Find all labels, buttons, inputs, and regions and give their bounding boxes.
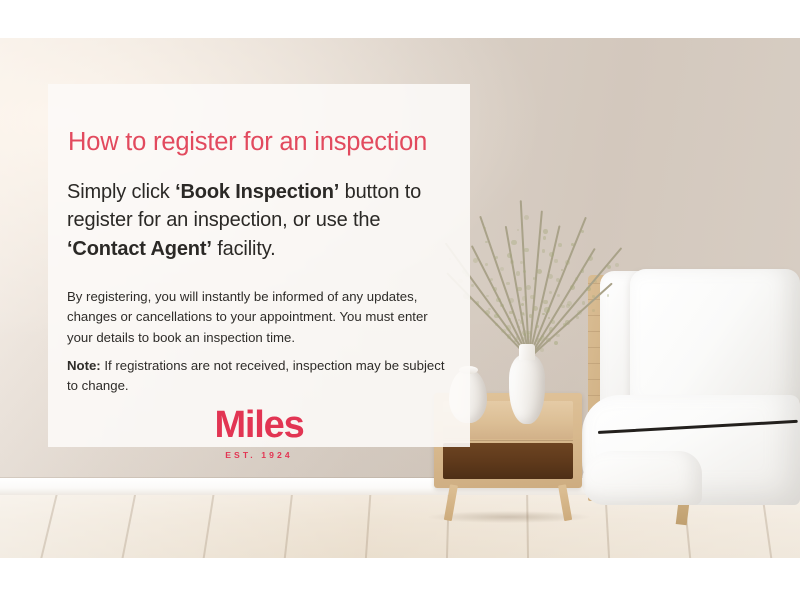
- branch-foliage: [577, 310, 582, 315]
- branch-foliage: [507, 253, 512, 258]
- branch-twig: [528, 248, 595, 359]
- branch-foliage: [527, 331, 531, 335]
- branch-foliage: [500, 304, 503, 307]
- branch-foliage: [496, 298, 500, 302]
- brand-logo: Miles EST. 1924: [48, 406, 470, 460]
- branch-foliage: [506, 282, 510, 286]
- branch-foliage: [500, 267, 504, 271]
- vase-tall-neck: [519, 344, 535, 360]
- branch-foliage: [563, 323, 566, 326]
- note-paragraph: Note: If registrations are not received,…: [67, 356, 447, 397]
- branch-foliage: [615, 263, 619, 267]
- branch-foliage: [576, 316, 579, 319]
- branch-foliage: [526, 285, 531, 290]
- branch-foliage: [484, 227, 486, 229]
- branch-foliage: [607, 265, 611, 269]
- duvet-fold: [582, 451, 702, 505]
- book-inspection-label: ‘Book Inspection’: [175, 181, 339, 203]
- branch-foliage: [530, 295, 535, 300]
- branch-foliage: [485, 310, 490, 315]
- branch-foliage: [543, 300, 548, 305]
- branch-foliage: [485, 241, 487, 243]
- branch-foliage: [571, 243, 574, 246]
- branch-foliage: [543, 236, 546, 239]
- branch-foliage: [561, 305, 564, 308]
- branch-foliage: [557, 294, 560, 297]
- branch-foliage: [551, 320, 555, 324]
- branch-foliage: [549, 330, 552, 333]
- branch-foliage: [548, 274, 553, 279]
- branch-foliage: [486, 295, 489, 298]
- contact-agent-label: ‘Contact Agent’: [67, 238, 212, 260]
- branch-foliage: [536, 325, 538, 327]
- lead-text-part-3: facility.: [212, 238, 276, 260]
- branch-foliage: [537, 269, 542, 274]
- branch-foliage: [582, 301, 586, 305]
- poster-panel: How to register for an inspection Simply…: [48, 84, 470, 447]
- branch-foliage: [554, 341, 558, 345]
- branch-foliage: [575, 277, 578, 280]
- branch-foliage: [549, 252, 554, 257]
- branch-foliage: [510, 260, 514, 264]
- branch-foliage: [594, 280, 597, 283]
- note-label: Note:: [67, 358, 101, 373]
- letterbox-bottom: [0, 558, 800, 600]
- branch-foliage: [517, 229, 519, 231]
- branch-foliage: [511, 240, 516, 245]
- branch-foliage: [521, 303, 524, 306]
- page-title: How to register for an inspection: [68, 128, 458, 156]
- branch-foliage: [476, 301, 480, 305]
- branch-foliage: [543, 229, 548, 234]
- branch-foliage: [524, 248, 528, 252]
- logo-wordmark: Miles: [48, 406, 470, 444]
- branch-foliage: [592, 309, 595, 312]
- screenshot-stage: How to register for an inspection Simply…: [0, 0, 800, 600]
- branch-foliage: [607, 294, 609, 296]
- branch-foliage: [495, 323, 498, 326]
- branch-foliage: [533, 306, 538, 311]
- branch-foliage: [495, 256, 498, 259]
- branch-foliage: [509, 298, 514, 303]
- branch-foliage: [540, 348, 544, 352]
- logo-established: EST. 1924: [48, 450, 470, 460]
- branch-foliage: [524, 215, 529, 220]
- branch-foliage: [523, 270, 526, 273]
- branch-foliage: [556, 334, 560, 338]
- bedroom-scene-photo: How to register for an inspection Simply…: [0, 38, 800, 558]
- branch-foliage: [485, 263, 489, 267]
- branch-foliage: [517, 287, 522, 292]
- branch-foliage: [549, 291, 553, 295]
- branch-foliage: [544, 307, 549, 312]
- branch-foliage: [542, 249, 546, 253]
- branch-foliage: [533, 277, 535, 279]
- branch-foliage: [581, 269, 585, 273]
- branch-foliage: [488, 308, 491, 311]
- lead-paragraph: Simply click ‘Book Inspection’ button to…: [67, 178, 459, 263]
- branch-foliage: [520, 320, 523, 323]
- branch-foliage: [471, 284, 474, 287]
- branch-foliage: [516, 271, 521, 276]
- branch-foliage: [554, 259, 557, 262]
- branch-foliage: [493, 287, 497, 291]
- note-text: If registrations are not received, inspe…: [67, 358, 445, 393]
- vase-tall: [509, 354, 545, 424]
- branch-foliage: [586, 287, 590, 291]
- registration-info-paragraph: By registering, you will instantly be in…: [67, 287, 447, 348]
- branch-foliage: [565, 260, 570, 265]
- branch-foliage: [473, 258, 478, 263]
- letterbox-top: [0, 0, 800, 38]
- lead-text-part-1: Simply click: [67, 181, 175, 203]
- branch-foliage: [558, 243, 562, 247]
- branch-foliage: [588, 256, 593, 261]
- branch-foliage: [581, 230, 584, 233]
- branch-foliage: [494, 314, 499, 319]
- branch-foliage: [570, 285, 575, 290]
